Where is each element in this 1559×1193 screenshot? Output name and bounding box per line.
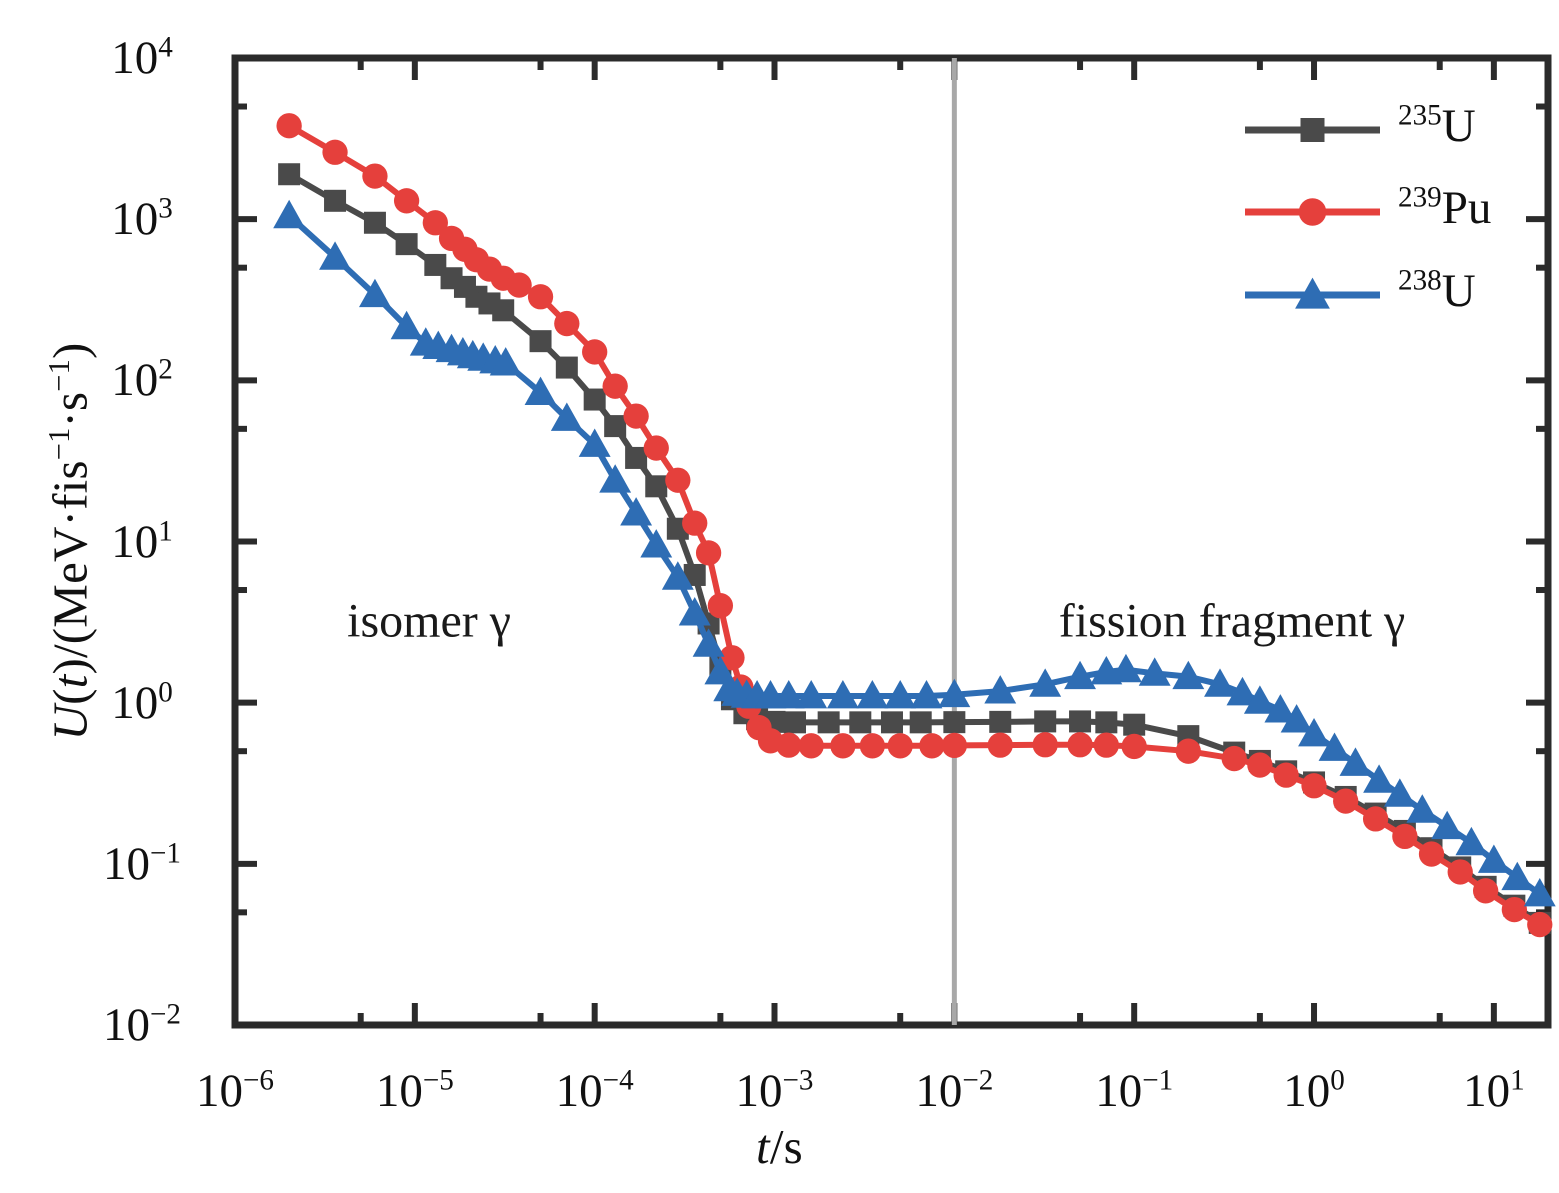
plot-frame (235, 58, 1548, 1025)
y-tick-label: 104 (111, 31, 173, 85)
x-tick-label: 10−3 (736, 1064, 814, 1118)
series-239Pu (276, 113, 1552, 937)
isomer-gamma-label: isomer γ (347, 594, 511, 649)
x-tick-label: 10−1 (1095, 1064, 1173, 1118)
y-axis-title-wrap: U(t)/(MeV·fis−1·s−1) (42, 142, 99, 942)
y-axis-title: U(t)/(MeV·fis−1·s−1) (43, 343, 98, 741)
y-tick-label: 100 (111, 676, 173, 730)
y-tick-label: 102 (111, 353, 173, 407)
x-tick-label: 101 (1463, 1064, 1525, 1118)
y-tick-label: 103 (111, 192, 173, 246)
y-tick-label: 10−2 (103, 998, 181, 1052)
x-tick-label: 10−5 (376, 1064, 454, 1118)
x-tick-label: 10−2 (915, 1064, 993, 1118)
x-tick-label: 10−4 (556, 1064, 634, 1118)
y-tick-label: 10−1 (103, 837, 181, 891)
x-tick-label: 10−6 (196, 1064, 274, 1118)
y-tick-label: 101 (111, 515, 173, 569)
legend-swatches (1245, 118, 1380, 309)
fission-fragment-gamma-label: fission fragment γ (1059, 594, 1405, 649)
legend-u238[interactable]: 238U (1398, 264, 1476, 318)
data-series-group (273, 113, 1556, 937)
x-axis-title-wrap: t/s (0, 1118, 1559, 1175)
x-axis-title: t/s (756, 1119, 803, 1174)
legend-pu239[interactable]: 239Pu (1398, 181, 1491, 235)
x-tick-label: 100 (1283, 1064, 1345, 1118)
series-235U (278, 163, 1551, 934)
axis-ticks (235, 58, 1548, 1025)
legend-u235[interactable]: 235U (1398, 99, 1476, 153)
figure-root: U(t)/(MeV·fis−1·s−1) t/s 10−610−510−410−… (0, 0, 1559, 1193)
